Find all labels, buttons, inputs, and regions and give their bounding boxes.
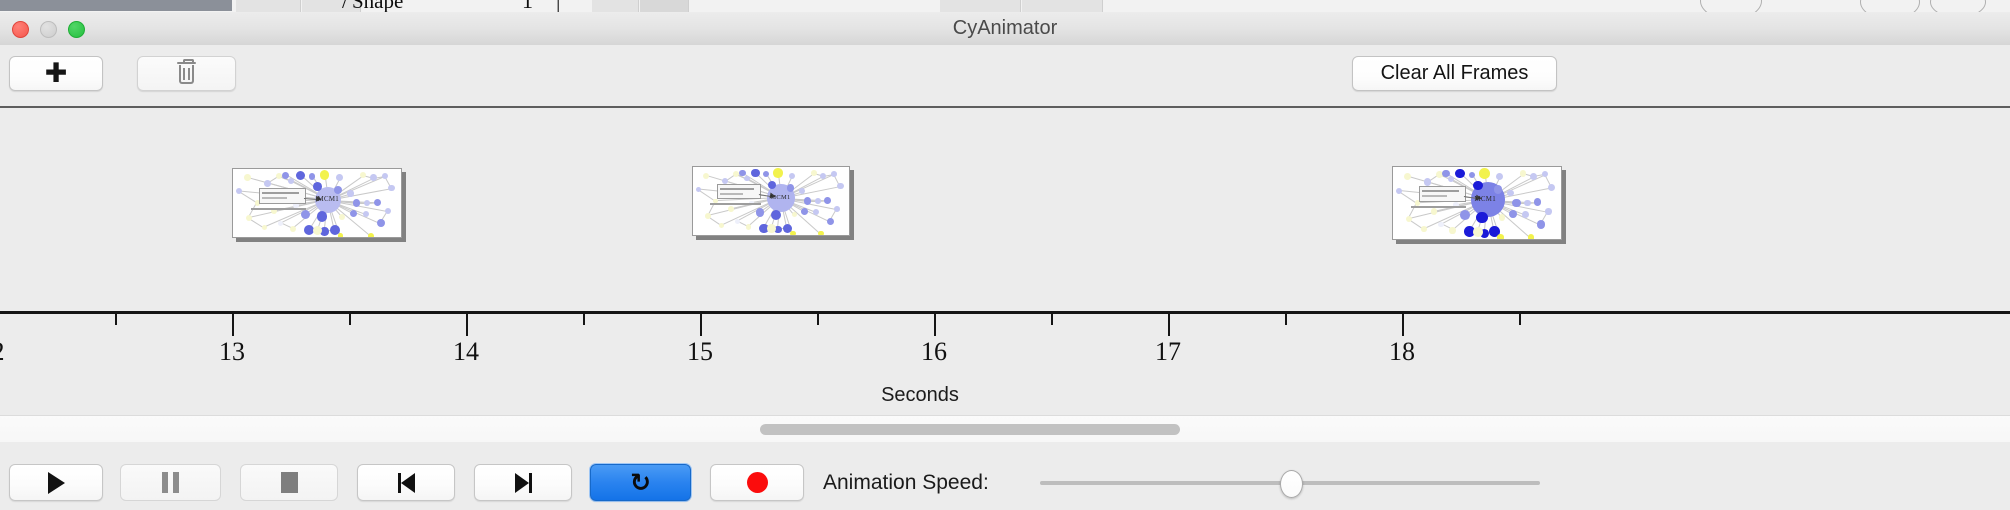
network-node [1497, 234, 1503, 240]
slider-thumb[interactable] [1280, 470, 1303, 498]
delete-frame-button[interactable] [137, 56, 236, 91]
axis-tick-major [934, 314, 936, 336]
axis-tick-label: 16 [921, 337, 947, 367]
network-node [1496, 173, 1503, 180]
network-node [818, 231, 824, 236]
plus-icon: ✚ [45, 60, 68, 87]
network-node [767, 224, 776, 233]
network-node [338, 233, 344, 238]
network-node [804, 197, 811, 204]
network-node [703, 173, 709, 179]
axis-tick-minor [817, 314, 819, 325]
callout-text-line [262, 192, 300, 194]
frame-strip[interactable]: MCM1 MCM1 MCM1 [0, 108, 2010, 311]
animation-speed-label: Animation Speed: [823, 464, 989, 501]
timeline-axis[interactable]: 2131415161718 Seconds [0, 311, 2010, 409]
callout-text-line [1422, 195, 1448, 197]
network-thumbnail: MCM1 [692, 166, 850, 236]
network-node [278, 221, 283, 226]
skip-backward-icon [398, 473, 415, 493]
network-node [336, 174, 343, 181]
network-node [837, 183, 843, 189]
network-node [313, 226, 322, 235]
network-node [334, 186, 342, 194]
network-node [1530, 173, 1537, 180]
network-node [1473, 227, 1483, 237]
network-node [1473, 181, 1482, 190]
keyframe-thumbnail[interactable]: MCM1 [232, 168, 402, 238]
network-node [1528, 234, 1534, 240]
window-title: CyAnimator [0, 12, 2010, 45]
network-node [339, 214, 345, 220]
axis-tick-minor [1051, 314, 1053, 325]
axis-tick-minor [349, 314, 351, 325]
background-window-titlebar [0, 0, 232, 11]
network-node [264, 180, 271, 187]
stop-button[interactable] [240, 464, 338, 501]
network-node [1545, 208, 1551, 214]
network-node [719, 223, 724, 228]
network-node [1542, 171, 1548, 177]
axis-line [0, 311, 2010, 314]
next-frame-button[interactable] [474, 464, 572, 501]
background-window-shape-label: Shape [352, 0, 472, 12]
callout-text-line [1422, 190, 1460, 192]
network-node [1421, 226, 1427, 232]
network-node [768, 181, 776, 189]
cyanimator-window: / 1 | Shape Shape CyAnimator ✚ Clear All… [0, 0, 2010, 510]
axis-tick-label: 18 [1389, 337, 1415, 367]
network-node [296, 171, 305, 180]
axis-tick-minor [1285, 314, 1287, 325]
network-node [1404, 173, 1411, 180]
network-node [790, 231, 796, 236]
network-node [301, 210, 310, 219]
axis-tick-major [700, 314, 702, 336]
network-node [1442, 170, 1450, 178]
network-node [1534, 198, 1542, 206]
scrollbar-thumb[interactable] [760, 424, 1180, 435]
network-node [320, 170, 330, 180]
network-node [382, 173, 388, 179]
network-node [1479, 168, 1490, 179]
network-node [360, 172, 366, 178]
background-chip [592, 0, 639, 12]
network-node [1406, 216, 1412, 222]
network-node [388, 185, 395, 192]
horizontal-scrollbar[interactable] [0, 415, 2010, 444]
network-node [751, 169, 760, 178]
hub-node-label: MCM1 [318, 196, 340, 203]
network-node [374, 199, 381, 206]
network-node [309, 173, 315, 179]
loop-icon: ↻ [630, 470, 651, 495]
axis-tick-minor [1519, 314, 1521, 325]
network-node [733, 171, 739, 177]
background-chip [940, 0, 1021, 12]
axis-tick-major [1168, 314, 1170, 336]
network-node [789, 173, 795, 179]
title-bar: CyAnimator [0, 12, 2010, 46]
record-button[interactable] [710, 464, 804, 501]
network-node [368, 233, 374, 238]
trash-icon [177, 62, 196, 85]
network-node [1431, 208, 1437, 214]
callout-text-line [720, 193, 744, 195]
network-node [1522, 211, 1529, 218]
hub-node-label: MCM1 [770, 194, 790, 201]
background-chip [640, 0, 689, 12]
animation-speed-slider[interactable] [1040, 464, 1540, 501]
toolbar [0, 45, 2010, 108]
pause-icon [162, 472, 179, 493]
network-node [262, 225, 267, 230]
network-thumbnail: MCM1 [232, 168, 402, 238]
clear-all-frames-label: Clear All Frames [1381, 62, 1529, 85]
network-node [1476, 212, 1488, 224]
record-icon [747, 472, 768, 493]
network-node [824, 197, 831, 204]
network-thumbnail: MCM1 [1392, 166, 1562, 240]
loop-button[interactable]: ↻ [590, 464, 691, 501]
skip-forward-icon [515, 473, 532, 493]
network-node [831, 171, 837, 177]
hub-node-label: MCM1 [1474, 196, 1496, 203]
network-node [739, 170, 746, 177]
axis-tick-label: 15 [687, 337, 713, 367]
network-node [244, 174, 251, 181]
network-node [811, 170, 817, 176]
network-node [728, 206, 734, 212]
network-node [735, 219, 740, 224]
network-annotation-text [251, 208, 306, 210]
play-icon [48, 472, 65, 494]
network-node [290, 226, 296, 232]
network-node [834, 206, 840, 212]
network-node [771, 210, 781, 220]
axis-tick-minor [583, 314, 585, 325]
network-node [246, 215, 252, 221]
network-node [1520, 170, 1526, 176]
network-node [1438, 222, 1444, 228]
network-node [385, 208, 391, 214]
network-node [350, 210, 357, 217]
network-node [787, 184, 794, 191]
network-node [1548, 184, 1555, 191]
network-node [1509, 210, 1517, 218]
network-annotation-text [710, 203, 761, 205]
background-chip [236, 0, 301, 12]
play-button[interactable] [9, 464, 103, 501]
axis-tick-major [466, 314, 468, 336]
network-node [705, 213, 711, 219]
keyframe-thumbnail[interactable]: MCM1 [1392, 166, 1562, 240]
network-node [1537, 220, 1546, 229]
network-node [1424, 178, 1431, 185]
network-node [746, 224, 752, 230]
network-node [364, 200, 370, 206]
network-node [1499, 214, 1505, 220]
network-node [744, 176, 750, 182]
network-node [1524, 200, 1530, 206]
network-node [1396, 188, 1402, 194]
keyframe-thumbnail[interactable]: MCM1 [692, 166, 850, 236]
previous-frame-button[interactable] [357, 464, 455, 501]
pause-button[interactable] [120, 464, 221, 501]
network-node [792, 212, 798, 218]
network-node [370, 174, 377, 181]
network-node [1449, 227, 1455, 233]
network-node [1494, 185, 1503, 194]
network-node [377, 219, 385, 227]
clear-all-frames-button[interactable]: Clear All Frames [1352, 56, 1557, 91]
axis-tick-label: 13 [219, 337, 245, 367]
callout-text-line [262, 197, 288, 199]
network-annotation-text [1411, 206, 1466, 208]
network-node [813, 209, 819, 215]
network-node [773, 168, 782, 177]
axis-title: Seconds [0, 384, 2010, 407]
network-node [815, 198, 821, 204]
callout-text-line [720, 188, 755, 190]
axis-tick-label: 17 [1155, 337, 1181, 367]
background-chip [1022, 0, 1103, 12]
network-node [756, 208, 765, 217]
network-node [288, 178, 294, 184]
network-node [1512, 199, 1521, 208]
network-node [827, 218, 834, 225]
stop-icon [281, 472, 298, 493]
axis-tick-major [232, 314, 234, 336]
axis-tick-minor [115, 314, 117, 325]
axis-tick-label: 14 [453, 337, 479, 367]
network-node [1460, 210, 1470, 220]
add-frame-button[interactable]: ✚ [9, 56, 103, 91]
axis-tick-major [1402, 314, 1404, 336]
network-node [801, 208, 808, 215]
axis-tick-label: 2 [0, 337, 5, 367]
network-node [347, 190, 353, 196]
network-node [363, 211, 369, 217]
